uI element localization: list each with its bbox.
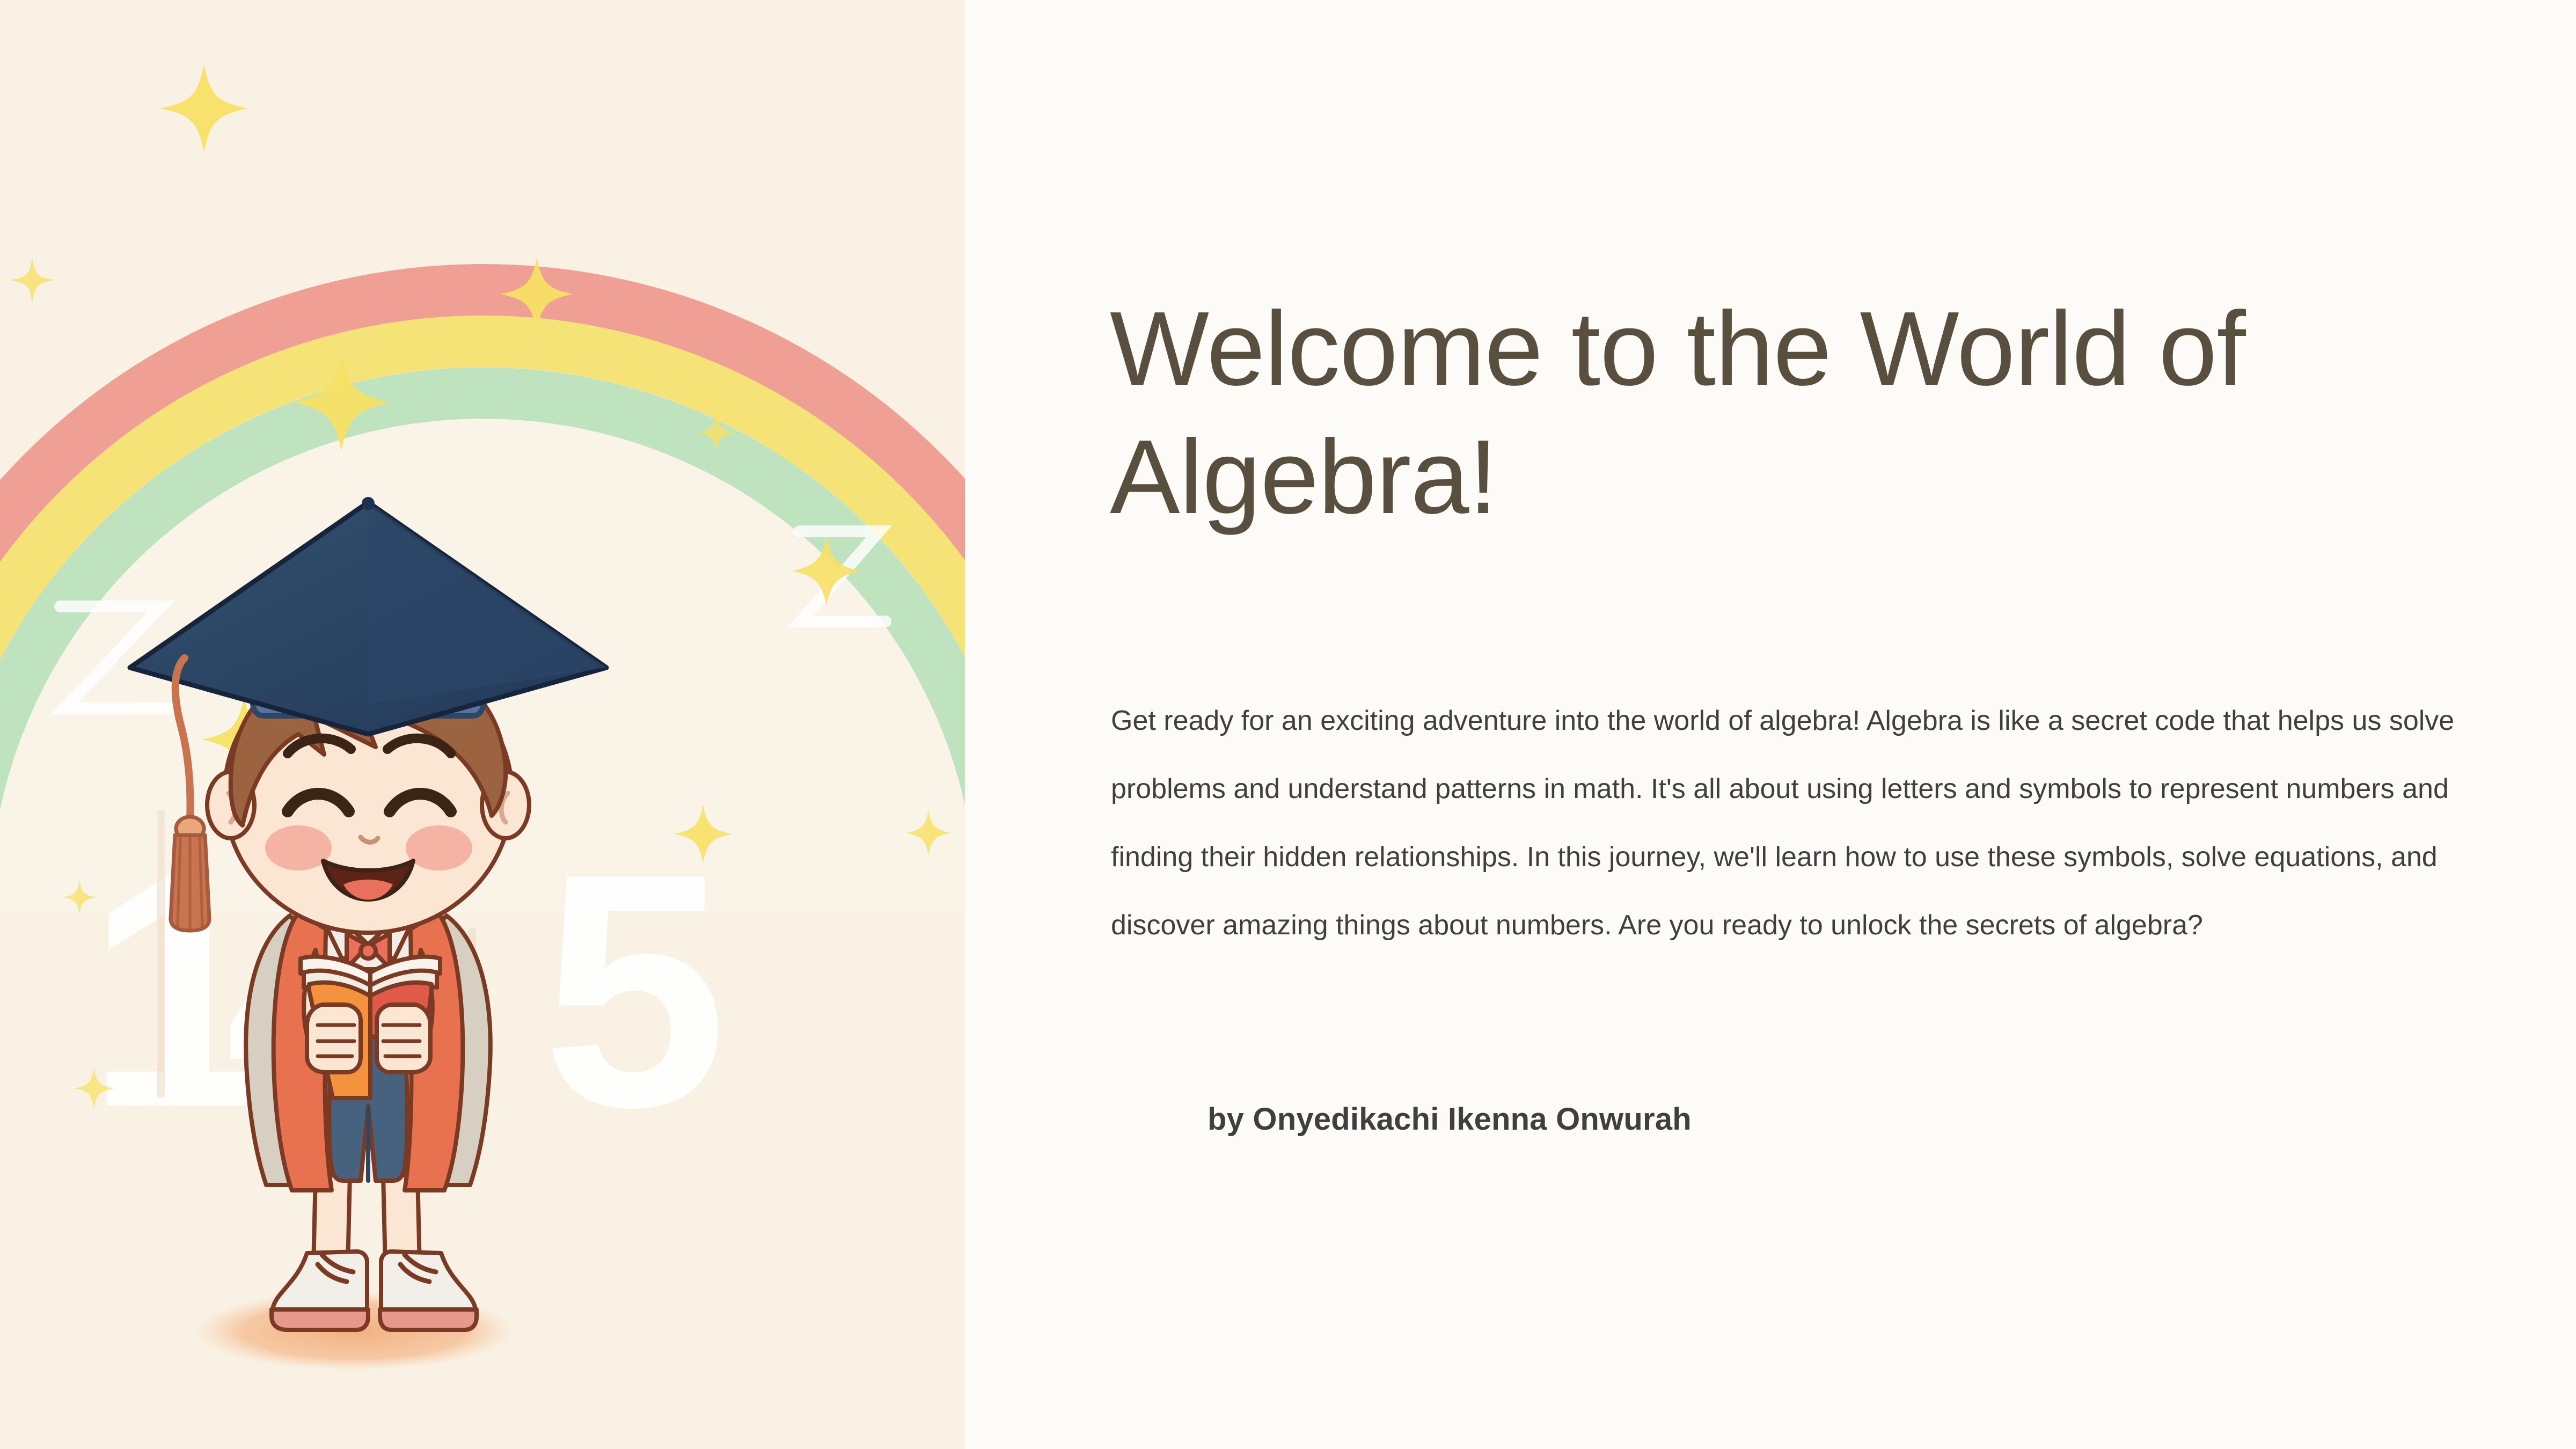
author-byline: by Onyedikachi Ikenna Onwurah bbox=[1207, 1101, 1692, 1137]
illustration-panel: 1 4 5 bbox=[0, 0, 965, 1449]
algebra-boy-illustration: 1 4 5 bbox=[0, 0, 965, 1449]
content-panel: Welcome to the World of Algebra! Get rea… bbox=[965, 0, 2576, 1449]
intro-paragraph: Get ready for an exciting adventure into… bbox=[1111, 687, 2469, 960]
page-title: Welcome to the World of Algebra! bbox=[1110, 284, 2505, 541]
svg-text:5: 5 bbox=[542, 805, 727, 1176]
slide-root: 1 4 5 bbox=[0, 0, 2576, 1449]
